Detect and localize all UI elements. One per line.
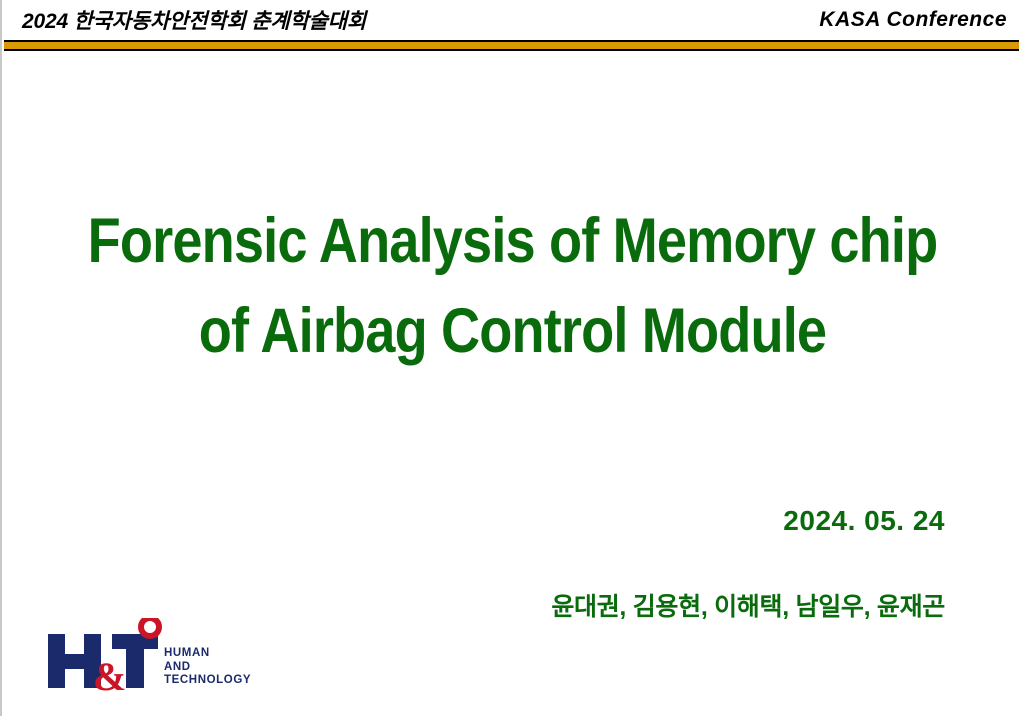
svg-text:&: & <box>93 654 126 699</box>
logo-tagline-line-2: AND <box>164 661 251 675</box>
author-list: 윤대권, 김용현, 이해택, 남일우, 윤재곤 <box>551 587 945 623</box>
logo-tagline: HUMAN AND TECHNOLOGY <box>164 647 251 688</box>
header-gold-rule <box>4 40 1019 51</box>
slide-canvas: 2024 한국자동차안전학회 춘계학술대회 KASA Conference Fo… <box>0 0 1021 716</box>
slide-header: 2024 한국자동차안전학회 춘계학술대회 KASA Conference <box>2 0 1021 52</box>
logo-tagline-line-1: HUMAN <box>164 647 251 661</box>
title-line-2: of Airbag Control Module <box>73 286 951 376</box>
logo-tagline-line-3: TECHNOLOGY <box>164 674 251 688</box>
title-line-1: Forensic Analysis of Memory chip <box>73 196 951 286</box>
conference-name-korean: 2024 한국자동차안전학회 춘계학술대회 <box>22 5 366 35</box>
presentation-date: 2024. 05. 24 <box>551 505 945 537</box>
ht-logo-icon: & <box>46 618 162 700</box>
conference-name-english: KASA Conference <box>819 8 1007 32</box>
presentation-meta: 2024. 05. 24 윤대권, 김용현, 이해택, 남일우, 윤재곤 <box>551 505 945 623</box>
header-text-row: 2024 한국자동차안전학회 춘계학술대회 KASA Conference <box>2 0 1021 40</box>
page-title: Forensic Analysis of Memory chip of Airb… <box>2 196 1021 376</box>
organization-logo: & HUMAN AND TECHNOLOGY <box>46 618 276 700</box>
